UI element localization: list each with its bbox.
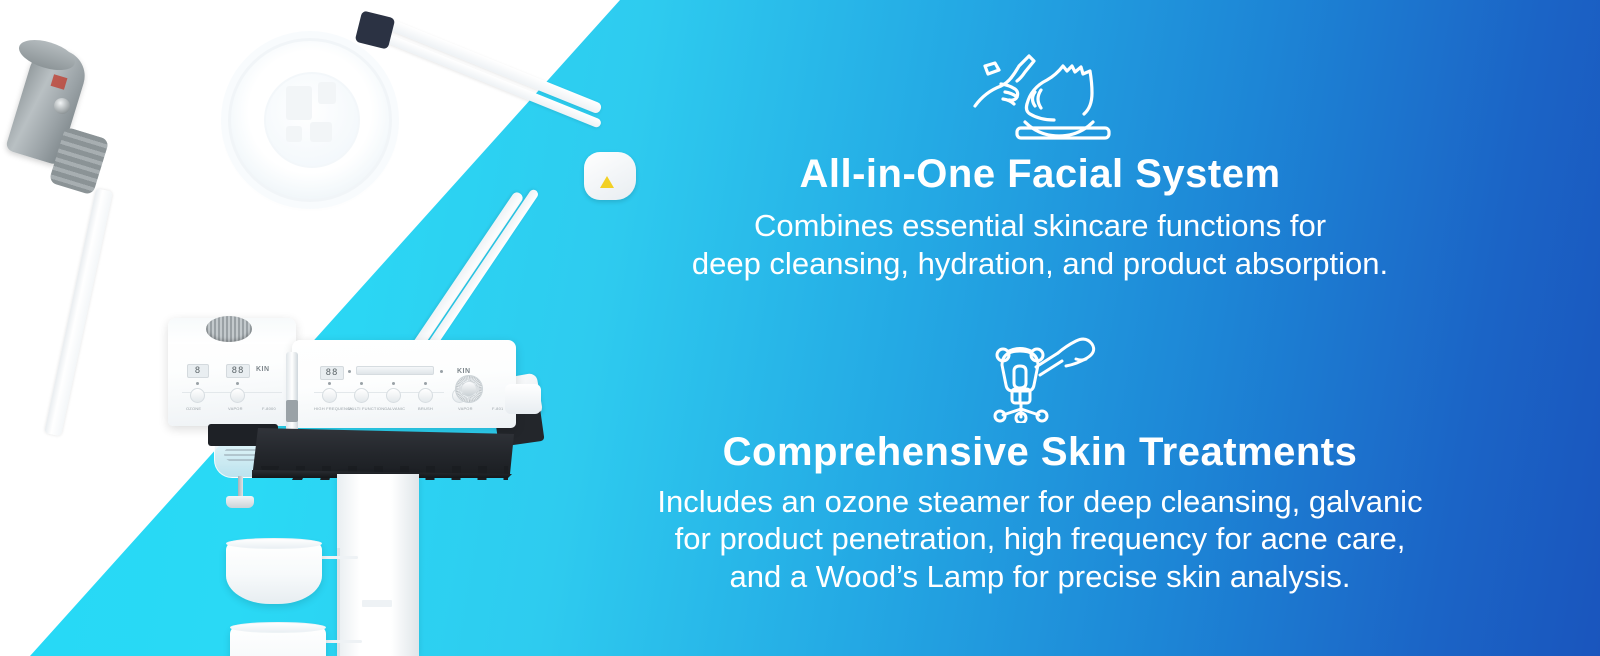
lens-reflection	[310, 122, 332, 142]
feature-block-skin-treatments: Comprehensive Skin Treatments Includes a…	[560, 325, 1520, 596]
button-label-ozone: OZONE	[186, 406, 201, 411]
button-label-multi-function: MULTI FUNCTION	[348, 406, 384, 411]
bowl-rim	[226, 538, 322, 549]
probe-tip	[286, 400, 298, 422]
cart-badge	[362, 600, 392, 607]
probe-holder	[286, 352, 298, 436]
magnifier-lamp-lens	[264, 72, 360, 168]
vapor-dial-core[interactable]	[462, 382, 476, 396]
control-button-vapor[interactable]	[230, 388, 245, 403]
brand-label-left: KIN	[256, 366, 270, 373]
features-column: All-in-One Facial System Combines essent…	[560, 0, 1520, 656]
bowl-bracket	[316, 556, 358, 559]
indicator-dot	[328, 382, 331, 385]
dial-label: VAPOR	[458, 406, 473, 411]
led-display-right: 88	[320, 366, 344, 380]
feature-title: All-in-One Facial System	[560, 153, 1520, 195]
led-display-left-1: 8	[187, 364, 209, 378]
top-knob	[206, 316, 252, 342]
control-button-ozone[interactable]	[190, 388, 205, 403]
feature-description-line: Combines essential skincare functions fo…	[560, 207, 1520, 245]
feature-description-line: Includes an ozone steamer for deep clean…	[560, 483, 1520, 521]
facial-steamer-icon	[560, 325, 1520, 425]
feature-block-facial-system: All-in-One Facial System Combines essent…	[560, 40, 1520, 283]
indicator-dot	[440, 370, 443, 373]
indicator-dot	[348, 370, 351, 373]
wand-pole	[44, 188, 113, 436]
indicator-dot	[424, 382, 427, 385]
feature-description-line: for product penetration, high frequency …	[560, 520, 1520, 558]
facial-treatment-icon	[560, 40, 1520, 145]
button-label-brush: BRUSH	[418, 406, 433, 411]
feature-description-line: deep cleansing, hydration, and product a…	[560, 245, 1520, 283]
indicator-dot	[392, 382, 395, 385]
feature-description-line: and a Wood’s Lamp for precise skin analy…	[560, 558, 1520, 596]
lens-reflection	[286, 86, 312, 120]
indicator-dot	[196, 382, 199, 385]
led-display-left-2: 88	[226, 364, 250, 378]
feature-title: Comprehensive Skin Treatments	[560, 431, 1520, 473]
feature-description: Combines essential skincare functions fo…	[560, 207, 1520, 283]
lens-reflection	[286, 126, 302, 142]
model-label-right: F-801	[492, 406, 503, 411]
accessory-bowl	[226, 542, 322, 604]
model-label-left: F-8000	[262, 406, 276, 411]
control-button-brush[interactable]	[418, 388, 433, 403]
promo-banner: 8 88 KIN OZONE VAPOR F-8000 88 HIGH FREQ…	[0, 0, 1600, 656]
cart-column	[337, 474, 419, 656]
indicator-dot	[236, 382, 239, 385]
control-button-galvanic[interactable]	[386, 388, 401, 403]
button-label-galvanic: GALVANIC	[384, 406, 405, 411]
button-label-vapor: VAPOR	[228, 406, 243, 411]
bowl-rim	[230, 622, 326, 633]
control-button-multi-function[interactable]	[354, 388, 369, 403]
bowl-bracket	[320, 640, 362, 643]
indicator-dot	[360, 382, 363, 385]
brand-label-right: KIN	[457, 368, 471, 375]
steamer-foot	[226, 496, 254, 508]
side-pod	[505, 384, 541, 414]
intensity-slider[interactable]	[356, 366, 434, 375]
product-image: 8 88 KIN OZONE VAPOR F-8000 88 HIGH FREQ…	[0, 0, 640, 656]
control-button-high-frequency[interactable]	[322, 388, 337, 403]
feature-description: Includes an ozone steamer for deep clean…	[560, 483, 1520, 596]
lens-reflection	[318, 82, 336, 104]
